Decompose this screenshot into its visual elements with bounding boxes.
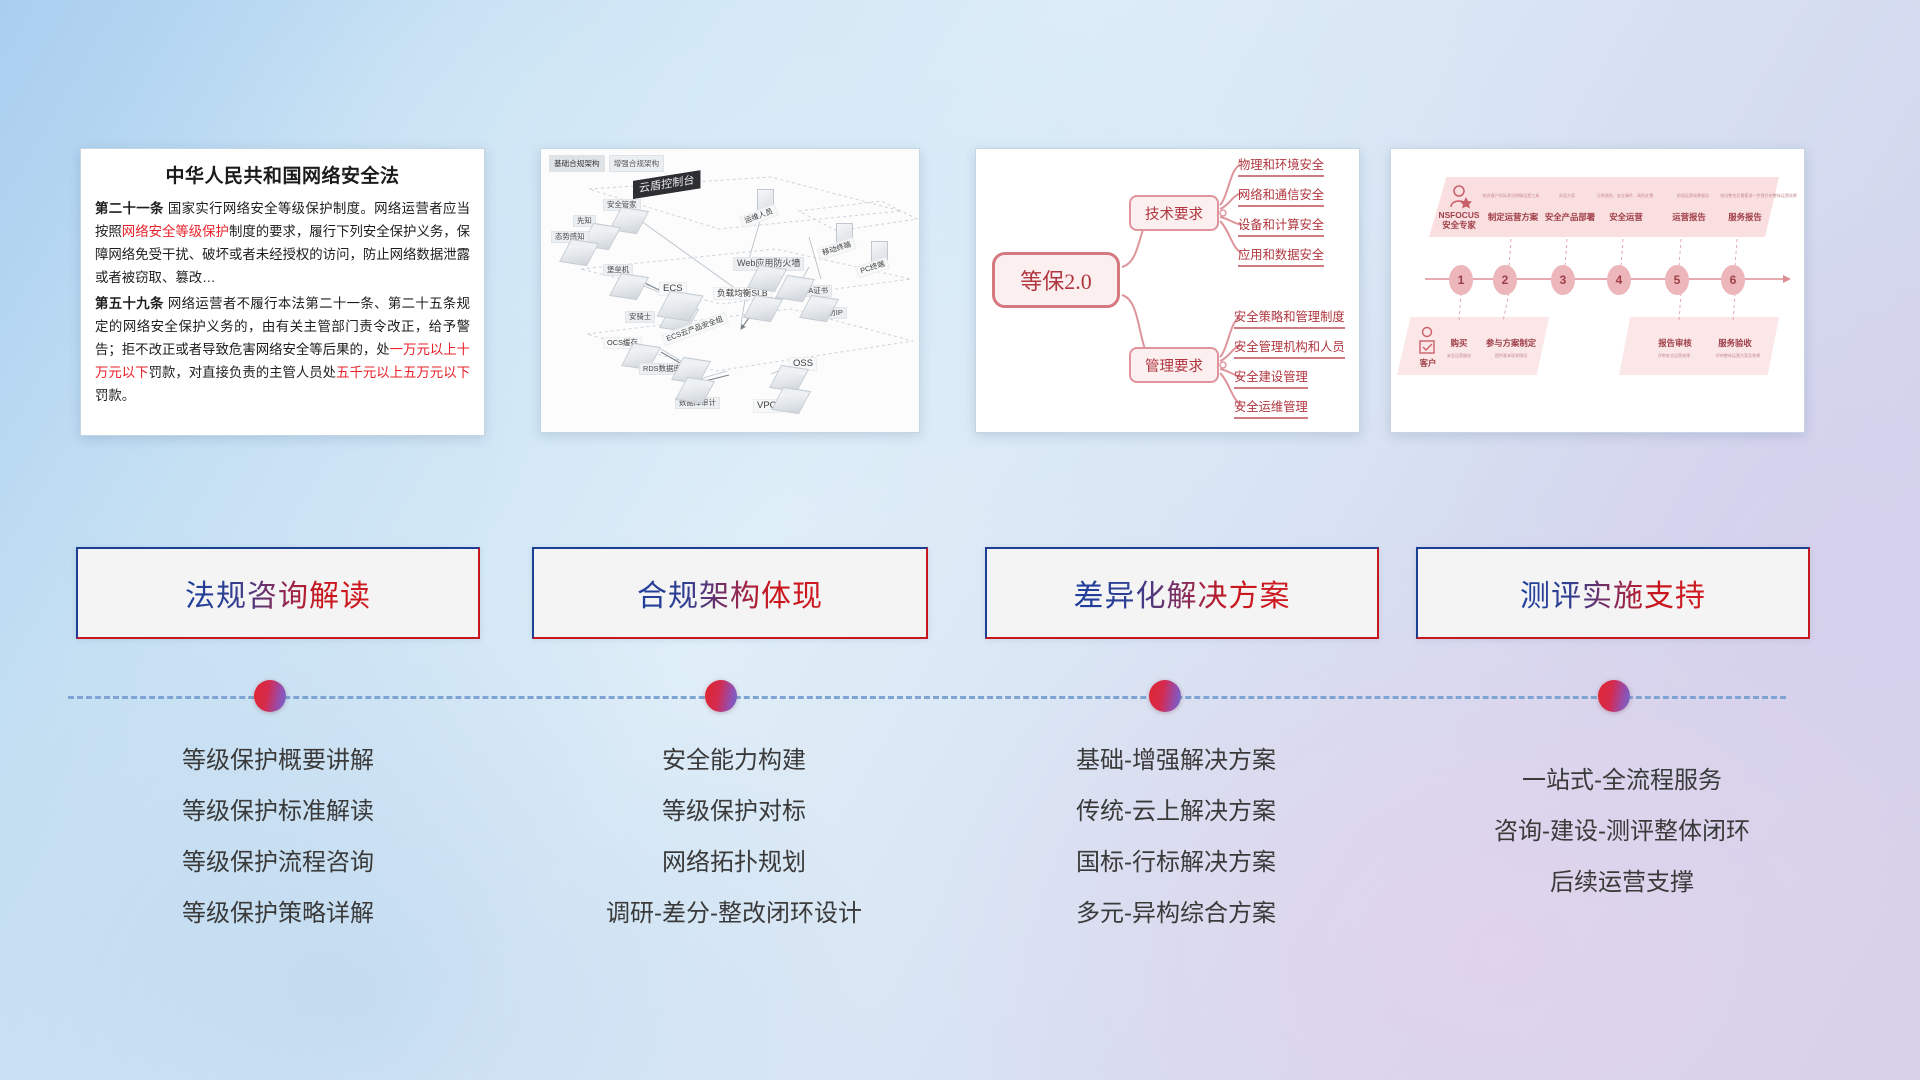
list-item: 等级保护概要讲解 — [56, 735, 500, 786]
flow-customer-label: 客户 — [1411, 357, 1445, 369]
flow-top-sub-4: 日常巡检、安全事件、高危处置 — [1590, 193, 1660, 199]
list-item: 传统-云上解决方案 — [954, 786, 1398, 837]
section-items-1: 等级保护概要讲解 等级保护标准解读 等级保护流程咨询 等级保护策略详解 — [56, 735, 500, 939]
list-item: 等级保护流程咨询 — [56, 837, 500, 888]
flow-bottom-title-1: 购买 — [1441, 337, 1477, 349]
mindmap-branch-technical: 技术要求 — [1129, 195, 1219, 231]
flow-node-6: 6 — [1721, 265, 1745, 295]
flow-node-5: 5 — [1665, 265, 1689, 295]
mindmap-leaf-mgmt-3: 安全建设管理 — [1234, 367, 1308, 389]
list-item: 基础-增强解决方案 — [954, 735, 1398, 786]
flow-bottom-sub-5: 评审安全运营效果 — [1644, 353, 1705, 359]
flow-bottom-sub-2: 提供基本现状情况 — [1485, 353, 1537, 359]
list-item: 安全能力构建 — [512, 735, 956, 786]
mindmap-leaf-mgmt-4: 安全运维管理 — [1234, 397, 1308, 419]
law-article-59-post: 罚款。 — [95, 388, 135, 403]
list-item: 一站式-全流程服务 — [1400, 755, 1844, 806]
section-items-3: 基础-增强解决方案 传统-云上解决方案 国标-行标解决方案 多元-异构综合方案 — [954, 735, 1398, 939]
timeline-dashed-line — [68, 696, 1786, 699]
card-cloud-architecture: 基础合规架构 增强合规架构 — [540, 148, 920, 433]
timeline-marker-2[interactable] — [705, 680, 737, 712]
mindmap-leaf-tech-2: 网络和通信安全 — [1238, 185, 1324, 207]
section-title-text-2: 合规架构体现 — [637, 571, 823, 615]
flow-top-title-2: 制定运营方案 — [1483, 211, 1543, 223]
flow-bottom-title-2: 参与方案制定 — [1479, 337, 1543, 349]
flow-top-title-6: 服务报告 — [1719, 211, 1771, 223]
section-title-text-1: 法规咨询解读 — [185, 571, 371, 615]
mindmap: 等保2.0 技术要求 管理要求 物理和环境安全 网络和通信安全 设备和计算安全 … — [976, 149, 1359, 432]
flow-bottom-sub-6: 评审整体运营方案及效果 — [1706, 353, 1770, 359]
flow-node-3: 3 — [1551, 265, 1575, 295]
flow-bottom-title-6: 服务验收 — [1709, 337, 1761, 349]
flow-node-4: 4 — [1607, 265, 1631, 295]
list-item: 等级保护对标 — [512, 786, 956, 837]
flow-node-1: 1 — [1449, 265, 1473, 295]
section-title-box-3[interactable]: 差异化解决方案 — [985, 547, 1379, 639]
flow-bottom-title-5: 报告审核 — [1649, 337, 1701, 349]
section-title-box-4[interactable]: 测评实施支持 — [1416, 547, 1810, 639]
section-items-2: 安全能力构建 等级保护对标 网络拓扑规划 调研-差分-整改闭环设计 — [512, 735, 956, 939]
flow-expert-label: NSFOCUS 安全专家 — [1431, 211, 1487, 230]
law-article-59-label: 第五十九条 — [95, 296, 164, 311]
mindmap-leaf-mgmt-2: 安全管理机构和人员 — [1234, 337, 1345, 359]
section-titles-row: 法规咨询解读 合规架构体现 差异化解决方案 测评实施支持 — [0, 547, 1920, 639]
mindmap-branch-management: 管理要求 — [1129, 347, 1219, 383]
list-item: 国标-行标解决方案 — [954, 837, 1398, 888]
mindmap-leaf-tech-4: 应用和数据安全 — [1238, 245, 1324, 267]
flow-top-sub-3: 实现方案 — [1545, 193, 1589, 199]
timeline-marker-3[interactable] — [1149, 680, 1181, 712]
law-article-21: 第二十一条 国家实行网络安全等级保护制度。网络运营者应当按照网络安全等级保护制度… — [95, 197, 470, 289]
timeline-marker-4[interactable] — [1598, 680, 1630, 712]
flow-top-sub-5: 阶段运营效果报告 — [1665, 193, 1720, 199]
flow-top-sub-2: 结合客户实际状况明确运营工具 — [1482, 193, 1541, 199]
law-title: 中华人民共和国网络安全法 — [95, 161, 470, 188]
section-title-text-3: 差异化解决方案 — [1074, 571, 1291, 615]
section-title-box-2[interactable]: 合规架构体现 — [532, 547, 928, 639]
expert-star-icon — [1460, 197, 1472, 209]
mindmap-root: 等保2.0 — [992, 252, 1120, 308]
flow-bottom-sub-1: 安全运营服务 — [1441, 353, 1478, 359]
list-item: 咨询-建设-测评整体闭环 — [1400, 806, 1844, 857]
card-dengbao-mindmap: 等保2.0 技术要求 管理要求 物理和环境安全 网络和通信安全 设备和计算安全 … — [975, 148, 1360, 433]
flow-top-title-4: 安全运营 — [1601, 211, 1651, 223]
section-title-text-4: 测评实施支持 — [1520, 571, 1706, 615]
section-items-row: 等级保护概要讲解 等级保护标准解读 等级保护流程咨询 等级保护策略详解 安全能力… — [0, 735, 1920, 975]
list-item: 等级保护策略详解 — [56, 888, 500, 939]
card-cybersecurity-law: 中华人民共和国网络安全法 第二十一条 国家实行网络安全等级保护制度。网络运营者应… — [80, 148, 485, 436]
law-fine-range-2: 五千元以上五万元以下 — [336, 365, 470, 380]
law-article-21-highlight: 网络安全等级保护 — [122, 224, 229, 239]
timeline-marker-1[interactable] — [254, 680, 286, 712]
card-service-flow: NSFOCUS 安全专家 客户 结合客户实际状况明确运营工具 实现方案 日常巡检… — [1390, 148, 1805, 433]
flow-top-sub-6: 给出整合后需要进一步提升的整体运营效果 — [1720, 193, 1794, 199]
section-title-box-1[interactable]: 法规咨询解读 — [76, 547, 480, 639]
list-item: 等级保护标准解读 — [56, 786, 500, 837]
customer-person-icon — [1420, 328, 1434, 354]
flow-node-2: 2 — [1493, 265, 1517, 295]
list-item: 后续运营支撑 — [1400, 857, 1844, 908]
reference-cards-strip: 中华人民共和国网络安全法 第二十一条 国家实行网络安全等级保护制度。网络运营者应… — [0, 148, 1920, 440]
flow-top-title-3: 安全产品部署 — [1541, 211, 1599, 223]
section-items-4: 一站式-全流程服务 咨询-建设-测评整体闭环 后续运营支撑 — [1400, 755, 1844, 908]
timeline — [0, 668, 1920, 728]
mindmap-leaf-mgmt-1: 安全策略和管理制度 — [1234, 307, 1345, 329]
list-item: 多元-异构综合方案 — [954, 888, 1398, 939]
law-article-59-mid: 罚款，对直接负责的主管人员处 — [149, 365, 337, 380]
mindmap-leaf-tech-1: 物理和环境安全 — [1238, 155, 1324, 177]
mindmap-leaf-tech-3: 设备和计算安全 — [1238, 215, 1324, 237]
law-article-21-label: 第二十一条 — [95, 201, 164, 216]
list-item: 网络拓扑规划 — [512, 837, 956, 888]
flow-top-title-5: 运营报告 — [1663, 211, 1715, 223]
list-item: 调研-差分-整改闭环设计 — [512, 888, 956, 939]
service-flow-diagram: NSFOCUS 安全专家 客户 结合客户实际状况明确运营工具 实现方案 日常巡检… — [1391, 149, 1804, 432]
architecture-diagram: 基础合规架构 增强合规架构 — [541, 149, 919, 432]
law-article-59: 第五十九条 网络运营者不履行本法第二十一条、第二十五条规定的网络安全保护义务的，… — [95, 292, 470, 407]
